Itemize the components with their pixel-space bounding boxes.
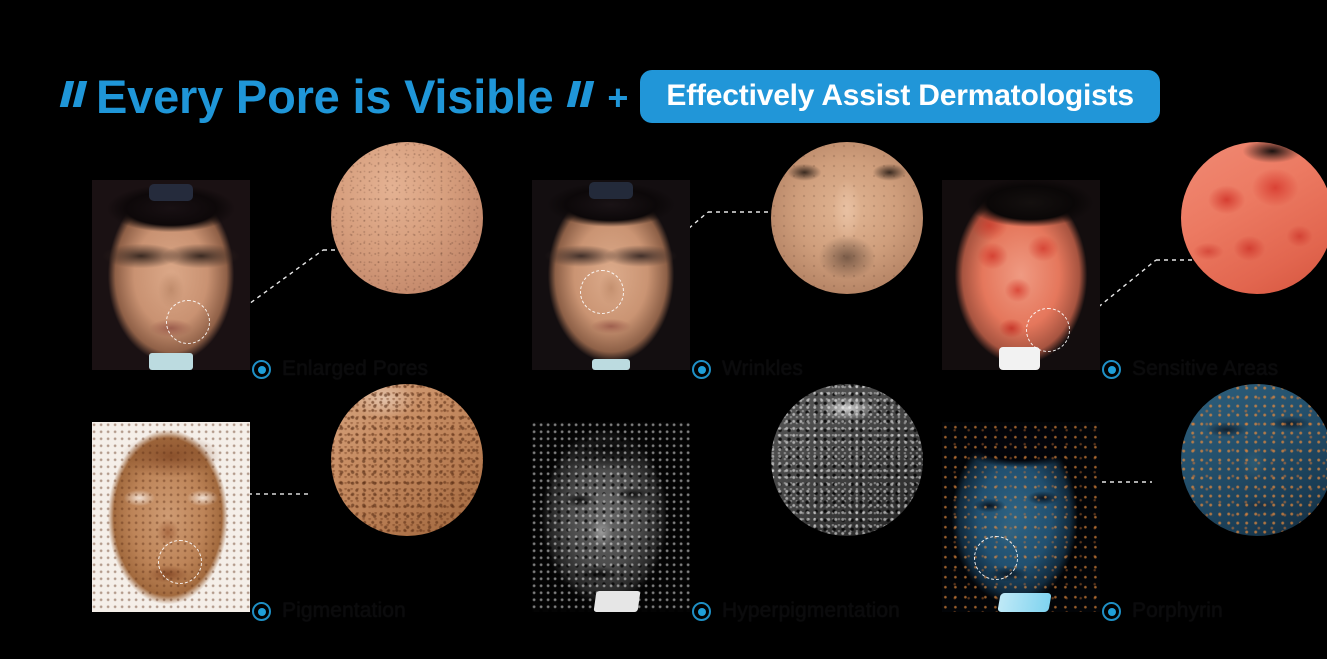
face-photo-pigmentation[interactable] bbox=[92, 422, 250, 612]
page-title: Every Pore is Visible bbox=[96, 73, 553, 120]
label-sensitive-areas[interactable]: Sensitive Areas bbox=[1102, 357, 1278, 381]
panel-enlarged-pores[interactable]: Enlarged Pores bbox=[80, 140, 500, 385]
dashed-circle-marker bbox=[158, 540, 202, 584]
radio-selected-icon[interactable] bbox=[1102, 602, 1121, 621]
magnified-view-pigmentation[interactable] bbox=[331, 384, 483, 536]
label-text: Sensitive Areas bbox=[1132, 357, 1278, 381]
dashed-circle-marker bbox=[580, 270, 624, 314]
quote-close-icon bbox=[567, 81, 597, 111]
label-enlarged-pores[interactable]: Enlarged Pores bbox=[252, 357, 428, 381]
panel-sensitive-areas[interactable]: Sensitive Areas bbox=[930, 140, 1327, 385]
label-text: Wrinkles bbox=[722, 357, 803, 381]
dashed-circle-marker bbox=[974, 536, 1018, 580]
quote-open-icon bbox=[60, 81, 90, 111]
panel-hyperpigmentation[interactable]: Hyperpigmentation bbox=[520, 382, 940, 627]
radio-selected-icon[interactable] bbox=[692, 360, 711, 379]
badge-assist-dermatologists: Effectively Assist Dermatologists bbox=[640, 70, 1159, 123]
magnified-view-enlarged-pores[interactable] bbox=[331, 142, 483, 294]
dashed-circle-marker bbox=[1026, 308, 1070, 352]
label-porphyrin[interactable]: Porphyrin bbox=[1102, 599, 1223, 623]
label-text: Pigmentation bbox=[282, 599, 406, 623]
plus-icon: + bbox=[607, 80, 628, 116]
face-skin-layer bbox=[942, 422, 1100, 612]
label-pigmentation[interactable]: Pigmentation bbox=[252, 599, 406, 623]
radio-selected-icon[interactable] bbox=[1102, 360, 1121, 379]
label-text: Hyperpigmentation bbox=[722, 599, 900, 623]
panel-pigmentation[interactable]: Pigmentation bbox=[80, 382, 500, 627]
magnified-view-hyperpigmentation[interactable] bbox=[771, 384, 923, 536]
magnified-view-sensitive-areas[interactable] bbox=[1181, 142, 1327, 294]
label-text: Porphyrin bbox=[1132, 599, 1223, 623]
panel-porphyrin[interactable]: Porphyrin bbox=[930, 382, 1327, 627]
magnified-view-wrinkles[interactable] bbox=[771, 142, 923, 294]
poster-canvas: Every Pore is Visible + Effectively Assi… bbox=[0, 0, 1327, 659]
magnified-view-porphyrin[interactable] bbox=[1181, 384, 1327, 536]
label-hyperpigmentation[interactable]: Hyperpigmentation bbox=[692, 599, 900, 623]
face-skin-layer bbox=[92, 422, 250, 612]
face-photo-enlarged-pores[interactable] bbox=[92, 180, 250, 370]
panel-wrinkles[interactable]: Wrinkles bbox=[520, 140, 940, 385]
face-photo-wrinkles[interactable] bbox=[532, 180, 690, 370]
face-skin-layer bbox=[92, 180, 250, 370]
face-photo-sensitive-areas[interactable] bbox=[942, 180, 1100, 370]
face-photo-porphyrin[interactable] bbox=[942, 422, 1100, 612]
header-banner: Every Pore is Visible + Effectively Assi… bbox=[0, 60, 1327, 132]
face-skin-layer bbox=[942, 180, 1100, 370]
radio-selected-icon[interactable] bbox=[252, 360, 271, 379]
radio-selected-icon[interactable] bbox=[252, 602, 271, 621]
label-wrinkles[interactable]: Wrinkles bbox=[692, 357, 803, 381]
radio-selected-icon[interactable] bbox=[692, 602, 711, 621]
face-photo-hyperpigmentation[interactable] bbox=[532, 422, 690, 612]
dashed-circle-marker bbox=[166, 300, 210, 344]
label-text: Enlarged Pores bbox=[282, 357, 428, 381]
